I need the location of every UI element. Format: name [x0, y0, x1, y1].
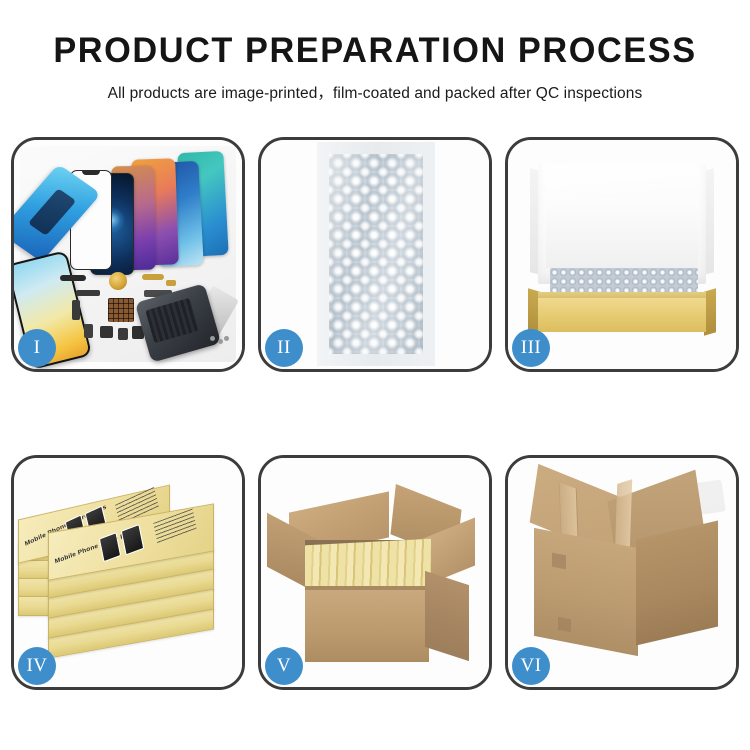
- box-front-face: [538, 298, 706, 332]
- panel-step-5: V: [258, 455, 492, 690]
- step-badge-4: IV: [18, 647, 56, 685]
- foam-liner: [546, 198, 698, 268]
- sealed-carton-front-face: [534, 528, 638, 656]
- flex-cable-5: [166, 280, 176, 286]
- coil-component: [109, 272, 127, 290]
- carton-front-face: [305, 590, 429, 662]
- carton-mark-2: [558, 617, 571, 633]
- process-panel-grid: I II III: [11, 137, 739, 690]
- panel-step-2: II: [258, 137, 492, 372]
- earpiece-speaker: [60, 275, 86, 281]
- screws-group: [210, 336, 228, 346]
- flex-cable-4: [142, 274, 164, 280]
- panel-step-6: VI: [505, 455, 739, 690]
- page-header: PRODUCT PREPARATION PROCESS All products…: [0, 0, 750, 103]
- step-badge-2: II: [265, 329, 303, 367]
- step-badge-6: VI: [512, 647, 550, 685]
- step-badge-5: V: [265, 647, 303, 685]
- sealed-carton-side-face: [636, 521, 718, 646]
- panel-step-3: III: [505, 137, 739, 372]
- small-part-1: [84, 324, 93, 338]
- step-badge-3: III: [512, 329, 550, 367]
- panel-step-4: Mobile Phone Spare Parts Mobile Phone Sp…: [11, 455, 245, 690]
- carton-right-face: [425, 571, 469, 661]
- small-part-2: [100, 326, 113, 338]
- page-title: PRODUCT PREPARATION PROCESS: [8, 30, 743, 72]
- flex-cable-1: [76, 290, 100, 296]
- page-subtitle: All products are image-printed，film-coat…: [0, 81, 750, 103]
- panel-step-1: I: [11, 137, 245, 372]
- small-part-3: [118, 328, 128, 340]
- connector-grid-component: [108, 298, 134, 322]
- step-badge-1: I: [18, 329, 56, 367]
- carton-mark-1: [552, 553, 566, 570]
- plastic-gloss-overlay: [329, 154, 423, 354]
- flex-cable-2: [72, 300, 80, 320]
